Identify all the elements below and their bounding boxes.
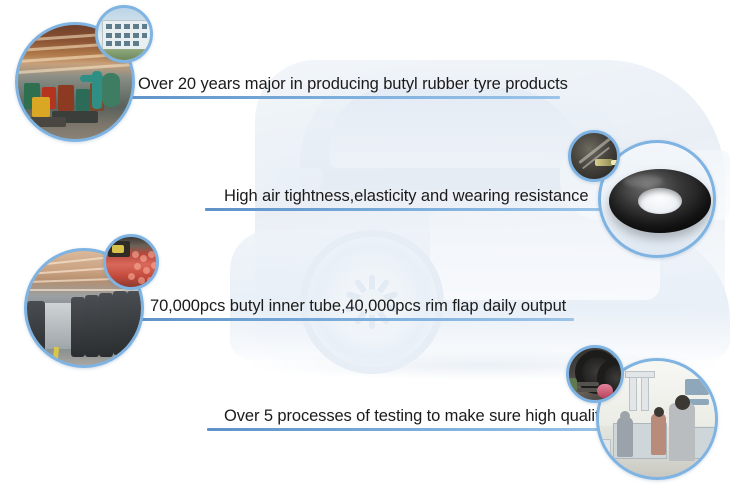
feature-caption-2: High air tightness,elasticity and wearin… (224, 187, 588, 206)
photo-office-building (95, 5, 153, 63)
infographic-canvas: Over 20 years major in producing butyl r… (0, 0, 732, 504)
caption-underline-2 (205, 208, 605, 211)
caption-underline-4 (207, 428, 625, 431)
feature-caption-3: 70,000pcs butyl inner tube,40,000pcs rim… (150, 297, 566, 316)
photo-red-packing-bags (103, 234, 159, 290)
feature-caption-4: Over 5 processes of testing to make sure… (224, 407, 608, 426)
caption-underline-1 (113, 96, 560, 99)
photo-tyre-inspection-closeup (566, 345, 624, 403)
car-window-shape (330, 88, 580, 168)
feature-caption-1: Over 20 years major in producing butyl r… (138, 75, 568, 94)
caption-underline-3 (128, 318, 574, 321)
photo-tube-valve-closeup (568, 130, 620, 182)
